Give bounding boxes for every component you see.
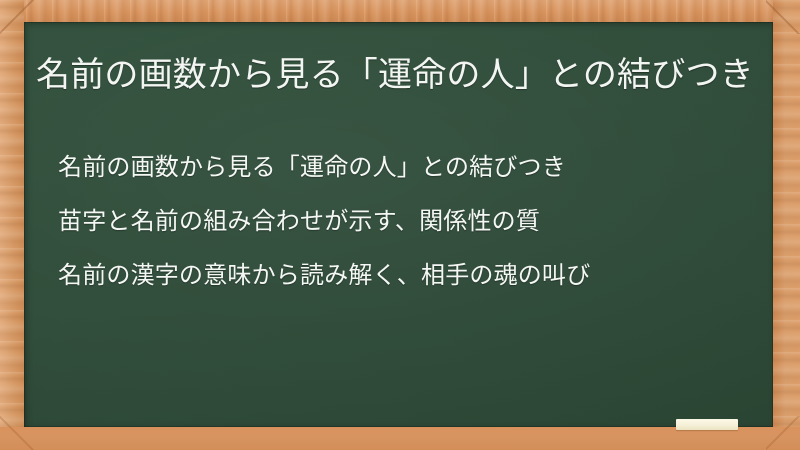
frame-top-rail <box>0 0 800 22</box>
frame-bottom-ledge <box>0 427 800 450</box>
bullet-item-2: 苗字と名前の組み合わせが示す、関係性の質 <box>58 206 758 238</box>
bullet-item-3: 名前の漢字の意味から読み解く、相手の魂の叫び <box>58 260 758 292</box>
slide-title: 名前の画数から見る「運命の人」との結びつき <box>36 53 754 98</box>
frame-left-rail <box>0 0 24 450</box>
bullet-list: 名前の画数から見る「運命の人」との結びつき 苗字と名前の組み合わせが示す、関係性… <box>58 152 758 292</box>
blackboard-slide: 名前の画数から見る「運命の人」との結びつき 名前の画数から見る「運命の人」との結… <box>0 0 800 450</box>
chalkboard-surface: 名前の画数から見る「運命の人」との結びつき 名前の画数から見る「運命の人」との結… <box>24 22 773 427</box>
chalk-stick-icon <box>676 419 738 430</box>
frame-right-rail <box>773 0 800 450</box>
bullet-item-1: 名前の画数から見る「運命の人」との結びつき <box>58 152 758 184</box>
